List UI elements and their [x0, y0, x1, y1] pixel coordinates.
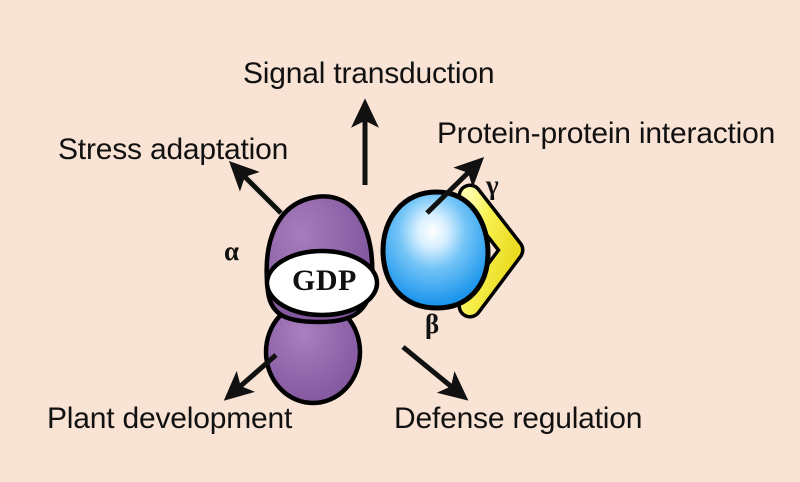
label-gamma-subunit: γ — [486, 172, 499, 199]
label-beta-subunit: β — [425, 311, 439, 338]
arrow-plant-development — [228, 355, 276, 397]
label-gdp: GDP — [292, 266, 357, 296]
label-plant-development: Plant development — [47, 404, 292, 434]
label-alpha-subunit: α — [224, 238, 239, 265]
beta-subunit-shape — [383, 192, 488, 308]
diagram-canvas: Signal transduction Protein-protein inte… — [0, 0, 800, 482]
label-defense-regulation: Defense regulation — [394, 404, 642, 434]
arrow-defense-regulation — [403, 347, 464, 397]
label-stress-adaptation: Stress adaptation — [58, 135, 288, 165]
label-signal-transduction: Signal transduction — [243, 59, 494, 89]
label-protein-protein-interaction: Protein-protein interaction — [437, 119, 775, 149]
arrow-stress-adaptation — [233, 165, 281, 213]
